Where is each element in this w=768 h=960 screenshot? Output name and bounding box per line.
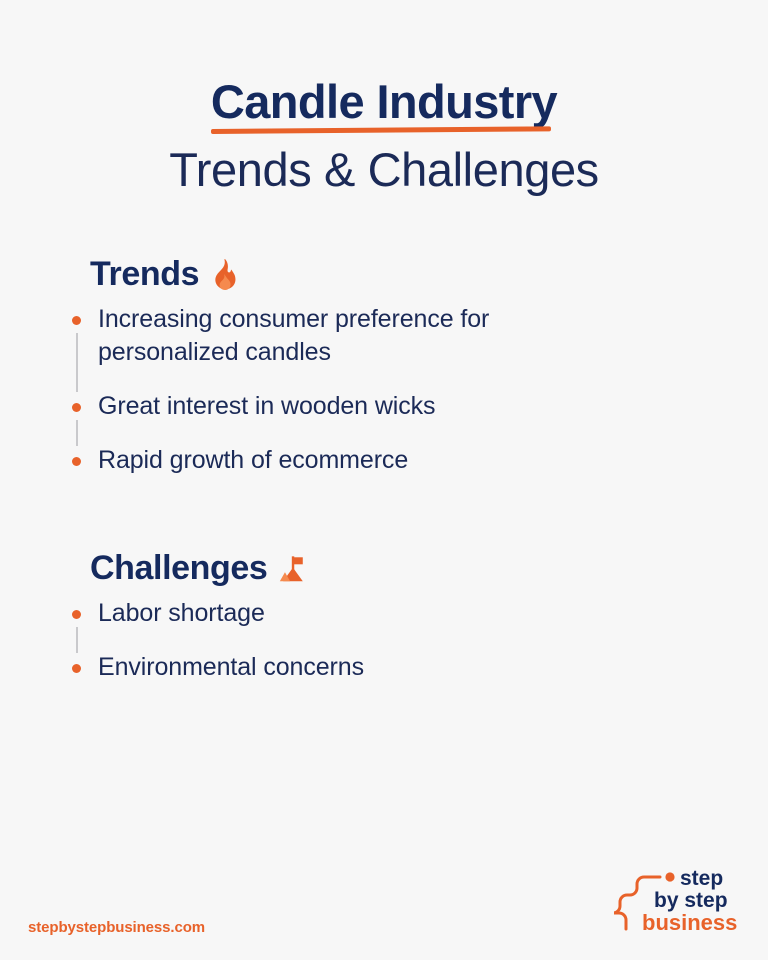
logo-line-2: by step — [654, 889, 728, 912]
challenges-list: Labor shortage Environmental concerns — [68, 597, 768, 685]
logo-line-1: step — [680, 867, 723, 890]
bullet-connector-line — [76, 333, 78, 392]
flame-icon — [209, 259, 239, 291]
list-item-label: Increasing consumer preference for perso… — [98, 303, 618, 370]
bullet-dot-icon — [72, 403, 81, 412]
list-item: Labor shortage — [68, 597, 768, 631]
list-item: Rapid growth of ecommerce — [68, 444, 768, 478]
section-challenges: Challenges Labor shortage Environmental … — [68, 550, 768, 685]
list-item-label: Labor shortage — [98, 597, 618, 630]
trends-list: Increasing consumer preference for perso… — [68, 303, 768, 478]
mountain-flag-icon — [277, 553, 307, 585]
section-heading-challenges: Challenges — [90, 550, 768, 587]
brand-logo: step by step business — [614, 866, 746, 938]
bullet-connector-line — [76, 627, 78, 653]
list-item-label: Great interest in wooden wicks — [98, 390, 618, 423]
list-item: Increasing consumer preference for perso… — [68, 303, 768, 370]
section-heading-trends: Trends — [90, 256, 768, 293]
section-title-text: Trends — [90, 256, 199, 293]
sections-container: Trends Increasing consumer preference fo… — [0, 256, 768, 685]
site-url-text: stepbystepbusiness.com — [28, 919, 205, 936]
section-trends: Trends Increasing consumer preference fo… — [68, 256, 768, 478]
bullet-dot-icon — [72, 610, 81, 619]
logo-line-3: business — [642, 910, 737, 935]
bullet-dot-icon — [72, 316, 81, 325]
bullet-connector-line — [76, 420, 78, 446]
title-main-wrapper: Candle Industry — [205, 78, 563, 125]
bullet-dot-icon — [72, 457, 81, 466]
list-item: Great interest in wooden wicks — [68, 390, 768, 424]
title-block: Candle Industry Trends & Challenges — [0, 0, 768, 196]
section-title-text: Challenges — [90, 550, 267, 587]
page-title: Candle Industry — [211, 78, 557, 125]
bullet-dot-icon — [72, 664, 81, 673]
list-item-label: Environmental concerns — [98, 651, 618, 684]
list-item-label: Rapid growth of ecommerce — [98, 444, 618, 477]
list-item: Environmental concerns — [68, 651, 768, 685]
page-subtitle: Trends & Challenges — [0, 145, 768, 196]
